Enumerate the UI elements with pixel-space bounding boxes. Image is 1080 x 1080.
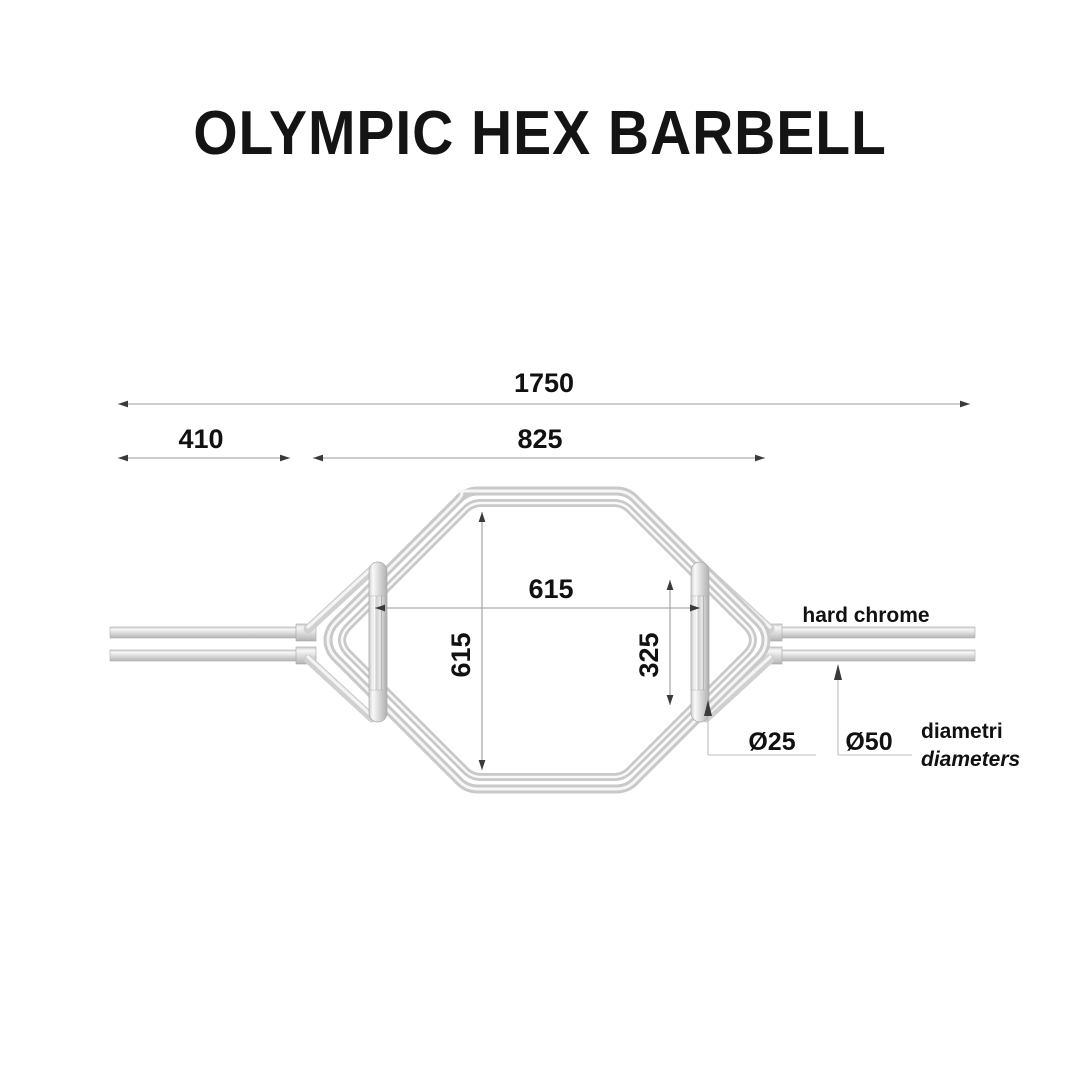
- dimension-hex-height: 615: [446, 512, 482, 770]
- dimension-label-615-horizontal: 615: [528, 574, 573, 604]
- dimension-hex-width: 825: [313, 424, 765, 458]
- dimension-handle-length: 325: [634, 580, 670, 705]
- right-handle: [691, 562, 709, 722]
- leader-sleeve-diameter: Ø50: [834, 664, 912, 756]
- dimension-label-825: 825: [517, 424, 562, 454]
- dimension-hex-inner-width: 615: [375, 574, 700, 608]
- dimension-label-410: 410: [178, 424, 223, 454]
- callout-hard-chrome: hard chrome: [802, 604, 929, 627]
- dimension-label-1750: 1750: [514, 368, 574, 398]
- left-sleeve: [110, 627, 310, 661]
- drawing-page: OLYMPIC HEX BARBELL: [0, 0, 1080, 1080]
- left-handle: [369, 562, 387, 722]
- dimension-label-325: 325: [634, 632, 664, 677]
- right-sleeve: [768, 627, 975, 661]
- legend-diameters: diametri diameters: [921, 720, 1020, 771]
- barbell-technical-drawing: 1750 410 825 615 615 325 hard chro: [0, 0, 1080, 1080]
- callout-diameter-25: Ø25: [748, 728, 795, 756]
- dimension-overall-length: 1750: [118, 368, 970, 404]
- dimension-sleeve-length: 410: [118, 424, 290, 458]
- callout-diameter-50: Ø50: [845, 728, 892, 756]
- dimension-label-615-vertical: 615: [446, 632, 476, 677]
- legend-italian: diametri: [921, 720, 1003, 743]
- legend-english: diameters: [921, 748, 1020, 771]
